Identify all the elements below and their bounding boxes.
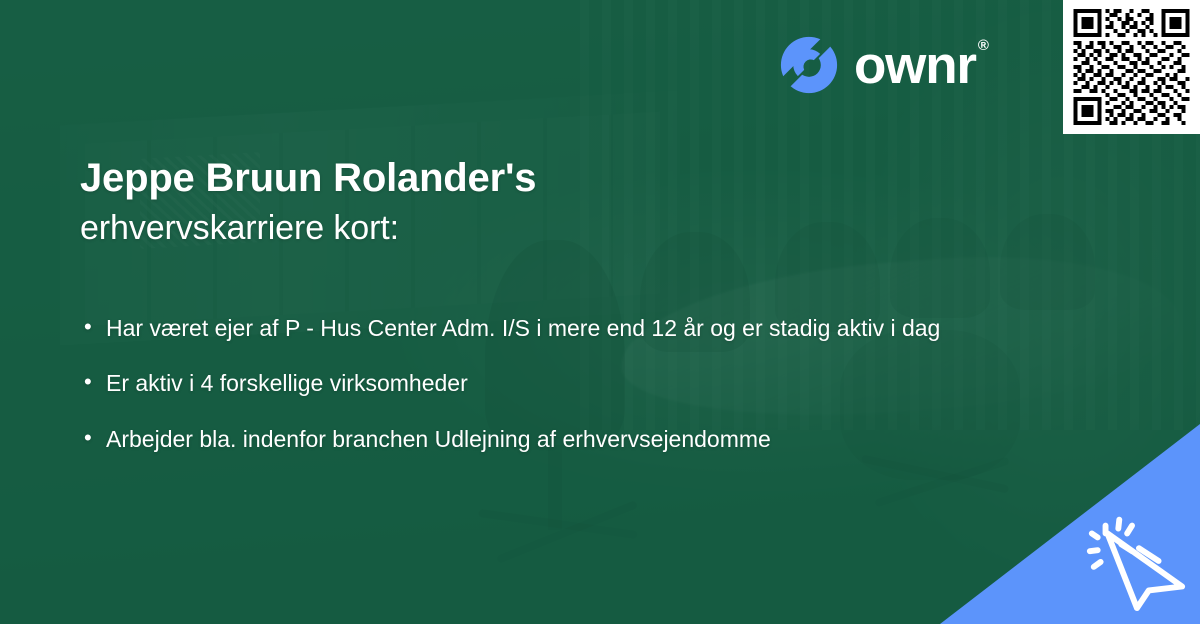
- click-cursor-icon: [1076, 504, 1194, 614]
- registered-trademark-symbol: ®: [978, 37, 988, 54]
- ownr-wordmark: ownr®: [854, 39, 986, 92]
- ownr-logo: ownr®: [778, 34, 986, 96]
- qr-code-panel[interactable]: [1063, 0, 1200, 134]
- list-item: Har været ejer af P - Hus Center Adm. I/…: [84, 312, 964, 345]
- list-item: Er aktiv i 4 forskellige virksomheder: [84, 367, 964, 400]
- business-card-banner: ownr®: [0, 0, 1200, 624]
- qr-code-icon: [1072, 9, 1191, 125]
- ownr-swirl-icon: [778, 34, 840, 96]
- career-summary-list: Har været ejer af P - Hus Center Adm. I/…: [84, 312, 964, 478]
- page-subtitle: erhvervskarriere kort:: [80, 208, 399, 249]
- ownr-wordmark-text: ownr: [854, 36, 976, 95]
- list-item: Arbejder bla. indenfor branchen Udlejnin…: [84, 423, 964, 456]
- page-title: Jeppe Bruun Rolander's: [80, 155, 536, 201]
